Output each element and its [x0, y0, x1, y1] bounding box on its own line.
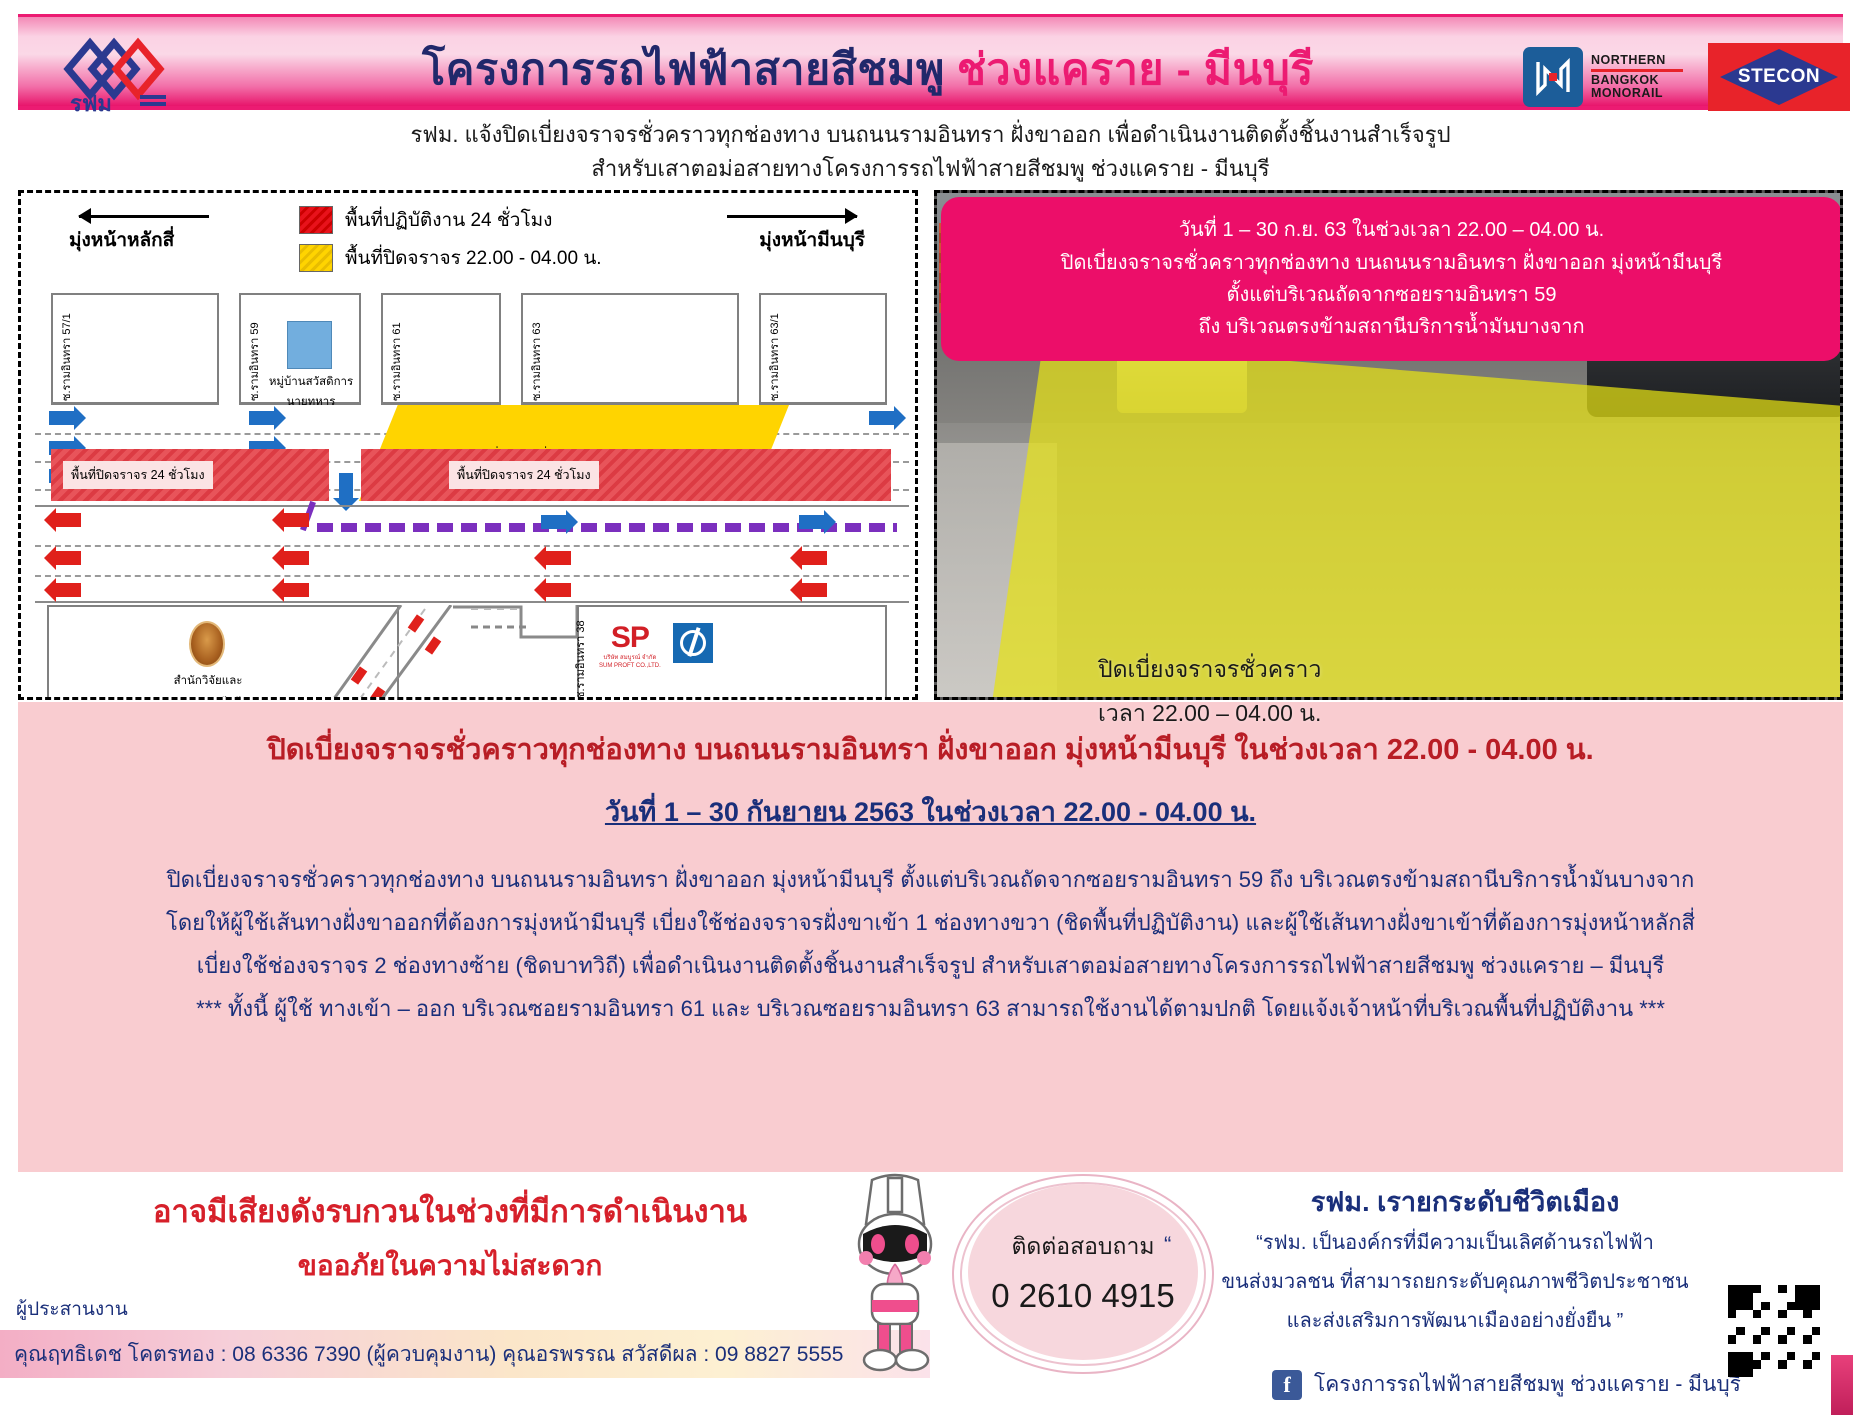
contact-phone-badge[interactable]: ติดต่อสอบถาม 0 2610 4915 [968, 1184, 1198, 1360]
closure-notice-line-2: ปิดเบี่ยงจราจรชั่วคราวทุกช่องทาง บนถนนรา… [1061, 247, 1722, 279]
mrta-vision-quote: “รฟม. เป็นองค์กรที่มีความเป็นเลิศด้านรถไ… [1190, 1224, 1720, 1341]
legend-label-work-area: พื้นที่ปฏิบัติงาน 24 ชั่วโมง [345, 205, 552, 235]
legend-label-night-closure: พื้นที่ปิดจราจร 22.00 - 04.00 น. [345, 243, 602, 273]
subtitle-line-2: สำหรับเสาตอม่อสายทางโครงการรถไฟฟ้าสายสีช… [0, 152, 1861, 186]
arrow-inbound-2-icon [55, 551, 81, 565]
arrow-merge-down-icon [339, 473, 353, 499]
quote-line-2: ขนส่งมวลชน ที่สามารถยกระดับคุณภาพชีวิตปร… [1190, 1263, 1720, 1302]
arrow-outbound-7-icon [869, 411, 895, 425]
direction-arrow-left-icon [79, 215, 209, 218]
arrow-inbound-4-icon [283, 513, 309, 527]
carriageway-edge-top [35, 505, 909, 507]
direction-label-left: มุ่งหน้าหลักสี่ [69, 225, 174, 255]
arrow-diverted-1-icon [541, 515, 567, 529]
notice-headline: ปิดเบี่ยงจราจรชั่วคราวทุกช่องทาง บนถนนรา… [18, 726, 1843, 772]
soi-label-59: ซ.รามอินทรา 59 [245, 322, 263, 401]
direction-label-right: มุ่งหน้ามีนบุรี [759, 225, 865, 255]
zone-24h-label-left: พื้นที่ปิดจราจร 24 ชั่วโมง [63, 461, 213, 489]
arrow-inbound-6-icon [283, 583, 309, 597]
poi-sp-sub-2: SUM PROFT CO.,LTD. [599, 663, 661, 671]
building-caption-line-1: หมู่บ้านสวัสดิการ [265, 373, 357, 393]
zone-24h-label-right: พื้นที่ปิดจราจร 24 ชั่วโมง [449, 461, 599, 489]
legend-swatch-yellow-icon [299, 244, 333, 272]
facebook-page-name: โครงการรถไฟฟ้าสายสีชมพู ช่วงแคราย - มีนบ… [1314, 1368, 1741, 1401]
arrow-inbound-7-icon [545, 551, 571, 565]
page-edge-tab [1831, 1355, 1853, 1415]
government-seal-icon [189, 621, 225, 667]
nbm-mark-icon [1523, 47, 1583, 107]
notice-body-line-1: ปิดเบี่ยงจราจรชั่วคราวทุกช่องทาง บนถนนรา… [18, 859, 1843, 902]
soi-label-63: ซ.รามอินทรา 63 [527, 322, 545, 401]
diagram-legend: พื้นที่ปฏิบัติงาน 24 ชั่วโมง พื้นที่ปิดจ… [299, 205, 602, 281]
notice-block: ปิดเบี่ยงจราจรชั่วคราวทุกช่องทาง บนถนนรา… [18, 702, 1843, 1172]
closure-notice-line-4: ถึง บริเวณตรงข้ามสถานีบริการน้ำมันบางจาก [1198, 311, 1584, 343]
quote-line-1: “รฟม. เป็นองค์กรที่มีความเป็นเลิศด้านรถไ… [1190, 1224, 1720, 1263]
noise-warning-line-2: ขออภัยในความไม่สะดวก [80, 1244, 820, 1288]
facebook-icon[interactable]: f [1272, 1370, 1302, 1400]
carriageway-edge-bottom [35, 601, 909, 603]
arrow-inbound-10-icon [801, 583, 827, 597]
arrow-outbound-4-icon [249, 411, 275, 425]
site-photo-panel: วันที่ 1 – 30 ก.ย. 63 ในช่วงเวลา 22.00 –… [934, 190, 1843, 700]
block-soi-63 [521, 293, 739, 405]
direction-arrow-right-icon [727, 215, 857, 218]
poi-bank-logo-icon [673, 623, 713, 663]
qr-code-icon[interactable] [1728, 1285, 1820, 1377]
notice-body-line-2: โดยให้ผู้ใช้เส้นทางฝั่งขาออกที่ต้องการมุ… [18, 902, 1843, 945]
poi-sp-label: SP [599, 621, 661, 655]
legend-item-work-area: พื้นที่ปฏิบัติงาน 24 ชั่วโมง [299, 205, 602, 235]
coordinator-label: ผู้ประสานงาน [16, 1294, 128, 1324]
arrow-inbound-1-icon [55, 513, 81, 527]
photo-caption: ปิดเบี่ยงจราจรชั่วคราว เวลา 22.00 – 04.0… [1098, 648, 1321, 735]
title-part-two: ช่วงแคราย - มีนบุรี [957, 35, 1314, 103]
facebook-row[interactable]: f โครงการรถไฟฟ้าสายสีชมพู ช่วงแคราย - มี… [1272, 1368, 1741, 1401]
poi-label-line-1: สำนักวิจัยและ [143, 671, 273, 692]
lane-divider-4 [35, 545, 909, 547]
arrow-inbound-3-icon [55, 583, 81, 597]
nbm-line-1: NORTHERN [1591, 54, 1683, 67]
subtitle-block: รฟม. แจ้งปิดเบี่ยงจราจรชั่วคราวทุกช่องทา… [0, 118, 1861, 186]
noise-warning-line-1: อาจมีเสียงดังรบกวนในช่วงที่มีการดำเนินงา… [80, 1186, 820, 1236]
block-soi-57-1 [51, 293, 219, 405]
svg-text:รฟม: รฟม [70, 91, 112, 115]
footer: อาจมีเสียงดังรบกวนในช่วงที่มีการดำเนินงา… [0, 1172, 1861, 1415]
photo-caption-line-2: เวลา 22.00 – 04.00 น. [1098, 692, 1321, 736]
photo-caption-line-1: ปิดเบี่ยงจราจรชั่วคราว [1098, 648, 1321, 692]
nbm-line-3: MONORAIL [1591, 87, 1683, 100]
poi-sp-logo: SP บริษัท สมบูรณ์ จำกัด SUM PROFT CO.,LT… [599, 621, 661, 671]
arrow-outbound-1-icon [49, 411, 75, 425]
legend-item-night-closure: พื้นที่ปิดจราจร 22.00 - 04.00 น. [299, 243, 602, 273]
legend-swatch-red-icon [299, 206, 333, 234]
page-title: โครงการรถไฟฟ้าสายสีชมพู ช่วงแคราย - มีนบ… [268, 33, 1468, 105]
northern-bangkok-monorail-logo: NORTHERN BANGKOK MONORAIL [1523, 45, 1683, 109]
zone-24h-closure-right [361, 449, 891, 501]
contact-badge-phone: 0 2610 4915 [991, 1277, 1175, 1315]
arrow-inbound-9-icon [801, 551, 827, 565]
traffic-diagram-panel: มุ่งหน้าหลักสี่ มุ่งหน้ามีนบุรี พื้นที่ป… [18, 190, 918, 700]
arrow-inbound-8-icon [545, 583, 571, 597]
quote-mark-icon: “ [1164, 1232, 1171, 1258]
mrta-logo: รฟม [48, 29, 218, 115]
closure-notice-box: วันที่ 1 – 30 ก.ย. 63 ในช่วงเวลา 22.00 –… [941, 197, 1842, 361]
header-banner: รฟม โครงการรถไฟฟ้าสายสีชมพู ช่วงแคราย - … [18, 14, 1843, 110]
notice-dateline: วันที่ 1 – 30 กันยายน 2563 ในช่วงเวลา 22… [18, 790, 1843, 833]
closure-notice-line-3: ตั้งแต่บริเวณถัดจากซอยรามอินทรา 59 [1227, 279, 1557, 311]
nbm-divider [1591, 69, 1683, 72]
soi-label-38: ซ.รามอินทรา 38 [571, 620, 589, 699]
poi-label-line-2: พัฒนาการอาชีวศึกษา [133, 693, 283, 700]
poi-sp-sub-1: บริษัท สมบูรณ์ จำกัด [599, 655, 661, 663]
title-part-one: โครงการรถไฟฟ้าสายสีชมพู [422, 35, 945, 103]
contact-badge-label: ติดต่อสอบถาม [1011, 1229, 1154, 1265]
poster-root: รฟม โครงการรถไฟฟ้าสายสีชมพู ช่วงแคราย - … [0, 0, 1861, 1415]
quote-line-3: และส่งเสริมการพัฒนาเมืองอย่างยั่งยืน ” [1190, 1302, 1720, 1341]
stecon-logo: STECON [1708, 43, 1850, 111]
contact-bar: คุณฤทธิเดช โคตรทอง : 08 6336 7390 (ผู้คว… [0, 1330, 930, 1378]
mrta-tagline: รฟม. เรายกระดับชีวิตเมือง [1230, 1180, 1700, 1223]
lane-divider-5 [35, 575, 909, 577]
notice-body-line-4: *** ทั้งนี้ ผู้ใช้ ทางเข้า – ออก บริเวณซ… [18, 988, 1843, 1031]
arrow-inbound-5-icon [283, 551, 309, 565]
stecon-diamond-icon: STECON [1720, 49, 1838, 105]
soi-label-61: ซ.รามอินทรา 61 [387, 322, 405, 401]
subtitle-line-1: รฟม. แจ้งปิดเบี่ยงจราจรชั่วคราวทุกช่องทา… [0, 118, 1861, 152]
arrow-diverted-2-icon [799, 515, 825, 529]
notice-body-line-3: เบี่ยงใช้ช่องจราจร 2 ช่องทางซ้าย (ชิดบาท… [18, 945, 1843, 988]
soi-label-57-1: ซ.รามอินทรา 57/1 [57, 313, 75, 401]
contact-names-and-phones: คุณฤทธิเดช โคตรทอง : 08 6336 7390 (ผู้คว… [14, 1338, 844, 1371]
soi-label-63-1: ซ.รามอินทรา 63/1 [765, 313, 783, 401]
building-military-welfare-village [287, 321, 332, 369]
stecon-label: STECON [1738, 66, 1820, 88]
closure-notice-line-1: วันที่ 1 – 30 ก.ย. 63 ในช่วงเวลา 22.00 –… [1179, 214, 1604, 246]
notice-body: ปิดเบี่ยงจราจรชั่วคราวทุกช่องทาง บนถนนรา… [18, 859, 1843, 1031]
